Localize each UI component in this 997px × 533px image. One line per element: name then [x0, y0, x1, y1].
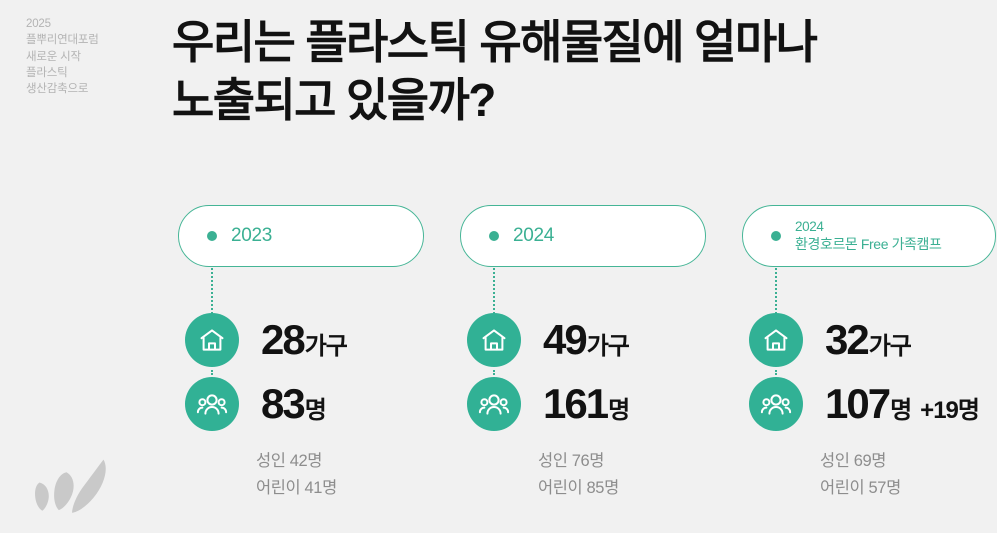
- stat-column-2024: 2024 49가구: [460, 205, 752, 533]
- households-value: 28가구: [261, 319, 347, 361]
- stat-columns: 2023 28가구: [0, 205, 997, 533]
- page-title-line-2: 노출되고 있을까?: [172, 72, 972, 130]
- people-number: 107: [825, 383, 889, 425]
- people-number: 83: [261, 383, 304, 425]
- people-unit: 명: [608, 399, 629, 423]
- kicker-line-1: 2025: [26, 16, 156, 32]
- badge-year: 2024: [795, 219, 942, 235]
- leaf-logo: [30, 453, 126, 519]
- people-value: 107명+19명: [825, 383, 979, 425]
- people-unit: 명: [305, 399, 326, 423]
- breakdown-children: 어린이 85명: [538, 475, 619, 502]
- people-extra: +19명: [920, 399, 979, 423]
- badge-dot-icon: [207, 231, 217, 241]
- kicker-line-3: 새로운 시작: [26, 49, 156, 65]
- stat-column-2023: 2023 28가구: [178, 205, 470, 533]
- badge-subtitle: 환경호르몬 Free 가족캠프: [795, 236, 942, 253]
- breakdown-children: 어린이 41명: [256, 475, 337, 502]
- badge-label: 2024 환경호르몬 Free 가족캠프: [795, 219, 942, 252]
- households-row: 32가구: [742, 313, 911, 367]
- people-value: 161명: [543, 383, 629, 425]
- households-unit: 가구: [587, 335, 629, 359]
- households-unit: 가구: [305, 335, 347, 359]
- house-icon: [467, 313, 521, 367]
- breakdown-block: 성인 42명 어린이 41명: [256, 448, 337, 501]
- households-number: 28: [261, 319, 304, 361]
- stat-column-2024-camp: 2024 환경호르몬 Free 가족캠프 32가구: [742, 205, 997, 533]
- badge-label: 2023: [231, 225, 272, 247]
- people-number: 161: [543, 383, 607, 425]
- badge-dot-icon: [771, 231, 781, 241]
- households-value: 32가구: [825, 319, 911, 361]
- kicker-line-2: 플뿌리연대포럼: [26, 32, 156, 48]
- badge-label: 2024: [513, 225, 554, 247]
- households-row: 28가구: [178, 313, 347, 367]
- households-unit: 가구: [869, 335, 911, 359]
- people-row: 107명+19명: [742, 377, 979, 431]
- page-title-line-1: 우리는 플라스틱 유해물질에 얼마나: [172, 14, 972, 72]
- people-unit: 명: [890, 399, 911, 423]
- house-icon: [185, 313, 239, 367]
- people-row: 161명: [460, 377, 629, 431]
- breakdown-adults: 성인 69명: [820, 448, 901, 475]
- households-number: 32: [825, 319, 868, 361]
- year-badge-2023[interactable]: 2023: [178, 205, 424, 267]
- breakdown-adults: 성인 42명: [256, 448, 337, 475]
- people-value: 83명: [261, 383, 326, 425]
- infographic-canvas: 2025 플뿌리연대포럼 새로운 시작 플라스틱 생산감축으로 우리는 플라스틱…: [0, 0, 997, 533]
- breakdown-block: 성인 76명 어린이 85명: [538, 448, 619, 501]
- page-title: 우리는 플라스틱 유해물질에 얼마나 노출되고 있을까?: [172, 14, 972, 130]
- year-badge-2024-camp[interactable]: 2024 환경호르몬 Free 가족캠프: [742, 205, 996, 267]
- group-icon: [185, 377, 239, 431]
- breakdown-children: 어린이 57명: [820, 475, 901, 502]
- badge-dot-icon: [489, 231, 499, 241]
- house-icon: [749, 313, 803, 367]
- kicker-block: 2025 플뿌리연대포럼 새로운 시작 플라스틱 생산감축으로: [26, 16, 156, 98]
- group-icon: [749, 377, 803, 431]
- kicker-line-5: 생산감축으로: [26, 81, 156, 97]
- kicker-line-4: 플라스틱: [26, 65, 156, 81]
- group-icon: [467, 377, 521, 431]
- people-row: 83명: [178, 377, 326, 431]
- breakdown-block: 성인 69명 어린이 57명: [820, 448, 901, 501]
- households-value: 49가구: [543, 319, 629, 361]
- breakdown-adults: 성인 76명: [538, 448, 619, 475]
- households-number: 49: [543, 319, 586, 361]
- households-row: 49가구: [460, 313, 629, 367]
- year-badge-2024[interactable]: 2024: [460, 205, 706, 267]
